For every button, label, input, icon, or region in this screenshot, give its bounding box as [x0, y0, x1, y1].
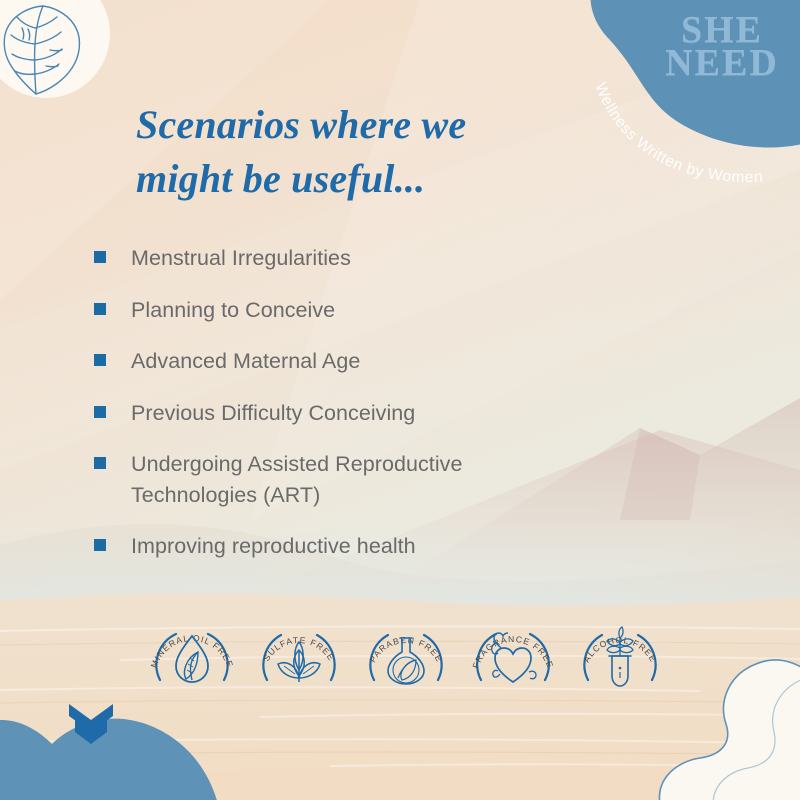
list-item: Previous Difficulty Conceiving — [94, 398, 564, 429]
list-item-label: Menstrual Irregularities — [131, 243, 351, 274]
badge-paraben-free: PARABEN FREE PARABEN FREE — [360, 612, 452, 694]
double-chevron-icon — [66, 700, 116, 748]
brand-tagline-curve: Wellness Written by Women — [580, 20, 800, 195]
bullet-square-icon — [94, 406, 106, 418]
brand-tagline: Wellness Written by Women — [592, 80, 764, 186]
list-item: Menstrual Irregularities — [94, 243, 564, 274]
bullet-square-icon — [94, 303, 106, 315]
list-item: Undergoing Assisted Reproductive Technol… — [94, 449, 564, 510]
bullet-square-icon — [94, 457, 106, 469]
svg-text:MINERAL OIL FREE: MINERAL OIL FREE — [149, 633, 236, 669]
svg-text:PARABEN FREE: PARABEN FREE — [367, 635, 444, 664]
badge-fragrance-free: FRAGRANCE FREE FRAGRANCE FREE — [467, 612, 559, 694]
list-item-label: Improving reproductive health — [131, 531, 416, 562]
poster-canvas: SHE NEED Wellness Written by Women Scena… — [0, 0, 800, 800]
bullet-square-icon — [94, 251, 106, 263]
bottom-right-blob-decor — [566, 606, 800, 800]
svg-text:FRAGRANCE FREE: FRAGRANCE FREE — [470, 634, 555, 670]
bottom-left-blob-decor — [0, 674, 280, 800]
list-item-label: Undergoing Assisted Reproductive Technol… — [131, 449, 491, 510]
list-item-label: Advanced Maternal Age — [131, 346, 360, 377]
list-item: Improving reproductive health — [94, 531, 564, 562]
scenario-list: Menstrual Irregularities Planning to Con… — [94, 243, 564, 583]
list-item: Planning to Conceive — [94, 295, 564, 326]
bullet-square-icon — [94, 539, 106, 551]
bullet-square-icon — [94, 354, 106, 366]
page-title-line-2: might be useful... — [136, 152, 556, 206]
list-item: Advanced Maternal Age — [94, 346, 564, 377]
list-item-label: Planning to Conceive — [131, 295, 335, 326]
page-title: Scenarios where we might be useful... — [136, 98, 556, 207]
monstera-leaf-icon — [2, 2, 88, 98]
list-item-label: Previous Difficulty Conceiving — [131, 398, 415, 429]
page-title-line-1: Scenarios where we — [136, 98, 556, 152]
